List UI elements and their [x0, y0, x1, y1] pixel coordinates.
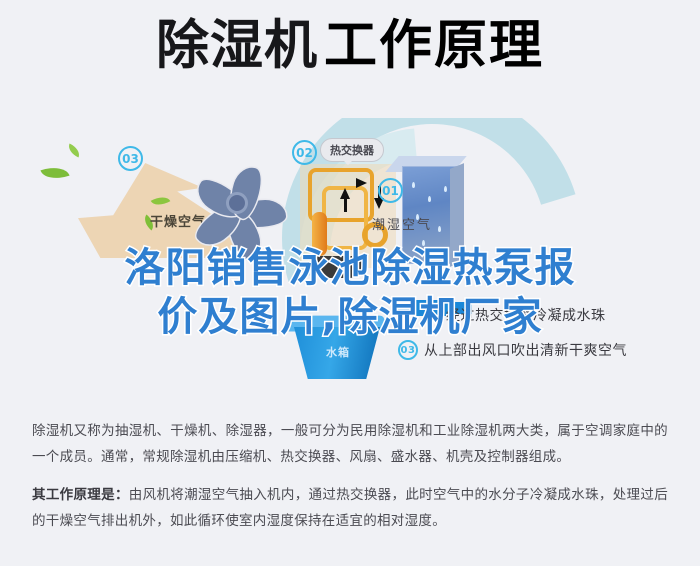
title-part-principle: 工作原理: [324, 18, 544, 74]
leaf-icon: [40, 162, 69, 183]
description-paragraph-2: 其工作原理是：由风机将潮湿空气抽入机内，通过热交换器，此时空气中的水分子冷凝成水…: [32, 482, 668, 534]
description-paragraph-2-lead: 其工作原理是：: [32, 487, 129, 503]
description-block: 除湿机又称为抽湿机、干燥机、除湿器，一般可分为民用除湿机和工业除湿机两大类，属于…: [0, 418, 700, 534]
heat-exchanger-icon: [392, 156, 470, 268]
fan-icon: [190, 160, 296, 256]
badge-03: 03: [118, 146, 143, 171]
badge-01: 01: [378, 178, 403, 203]
description-paragraph-1: 除湿机又称为抽湿机、干燥机、除湿器，一般可分为民用除湿机和工业除湿机两大类，属于…: [32, 418, 668, 470]
caption-step-03-text: 从上部出风口吹出清新干爽空气: [424, 340, 627, 360]
page-root: 除湿机 工作原理 干燥空气 03: [0, 0, 700, 566]
humid-air-label: 潮湿空气: [372, 214, 432, 233]
caption-badge-03: 03: [398, 340, 418, 360]
diagram-illustration: 干燥空气 03: [0, 118, 700, 408]
heat-exchanger-callout: 热交换器: [320, 138, 384, 162]
leaf-icon: [66, 143, 82, 157]
page-title: 除湿机 工作原理: [0, 18, 700, 74]
water-tank-icon: 水箱: [288, 314, 386, 380]
caption-step-02-text: 经过热交换器冷凝成水珠: [446, 308, 606, 324]
caption-step-02: 经过热交换器冷凝成水珠: [446, 305, 606, 325]
badge-02: 02: [292, 140, 317, 165]
caption-step-03: 03 从上部出风口吹出清新干爽空气: [398, 340, 627, 360]
water-tank-label: 水箱: [326, 344, 350, 360]
title-part-device: 除湿机: [156, 18, 318, 74]
